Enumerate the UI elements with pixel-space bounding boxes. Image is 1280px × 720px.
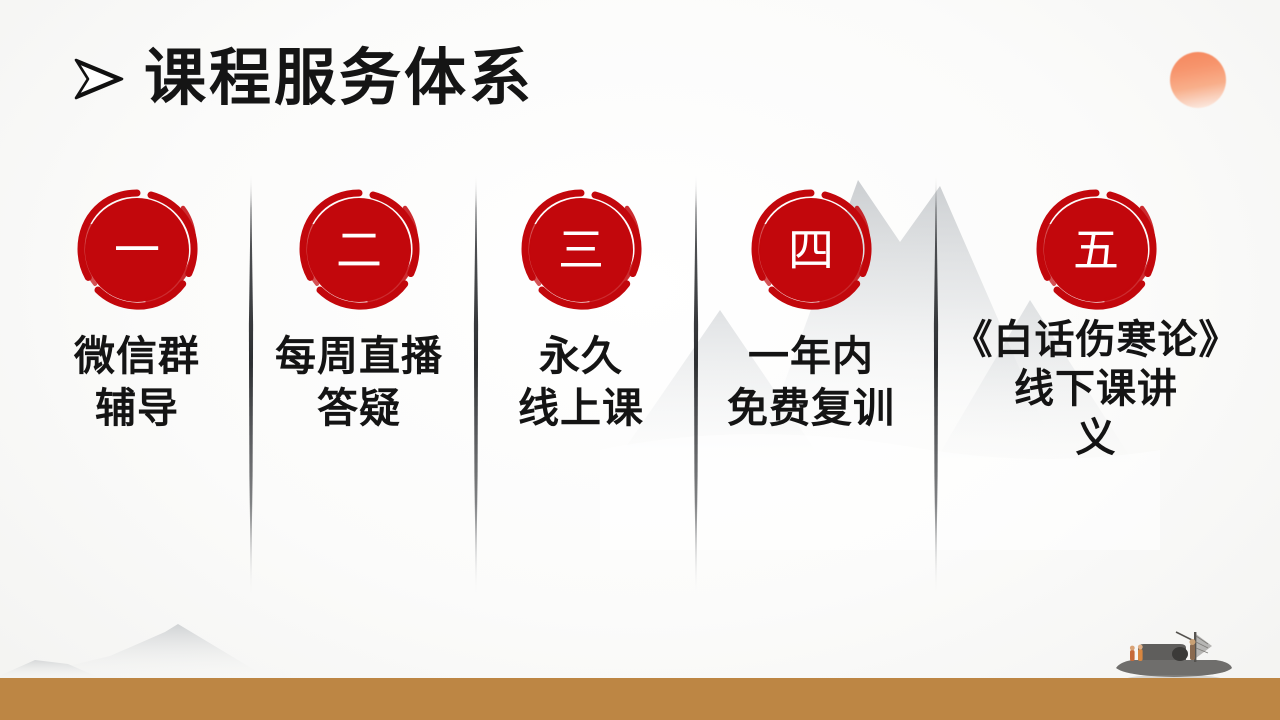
label-line: 辅导 — [30, 382, 244, 434]
service-item[interactable]: 一 微信群 辅导 — [30, 175, 244, 435]
sun-icon — [1170, 52, 1226, 108]
number-badge-text: 三 — [525, 194, 637, 306]
number-badge-text: 四 — [755, 194, 867, 306]
service-item-label: 永久 线上课 — [476, 330, 686, 435]
number-badge-text: 五 — [1040, 194, 1152, 306]
service-item[interactable]: 二 每周直播 答疑 — [252, 175, 466, 435]
number-badge-text: 二 — [303, 194, 415, 306]
page-title: 课程服务体系 — [72, 48, 534, 110]
label-line: 《白话伤寒论》 — [936, 316, 1256, 365]
label-line: 永久 — [476, 330, 686, 382]
service-item[interactable]: 四 一年内 免费复训 — [696, 175, 926, 435]
service-item[interactable]: 三 永久 线上课 — [476, 175, 686, 435]
service-item[interactable]: 五 《白话伤寒论》 线下课讲 义 — [936, 175, 1256, 462]
label-line: 一年内 — [696, 330, 926, 382]
arrow-bullet-icon — [72, 56, 126, 102]
service-item-label: 一年内 免费复训 — [696, 330, 926, 435]
label-line: 每周直播 — [252, 330, 466, 382]
service-item-label: 微信群 辅导 — [30, 330, 244, 435]
chinese-boat-icon — [1108, 624, 1238, 684]
slide-canvas: 课程服务体系 — [0, 0, 1280, 720]
number-badge-text: 一 — [81, 194, 193, 306]
number-badge: 三 — [525, 194, 637, 306]
label-line: 答疑 — [252, 382, 466, 434]
label-line: 线上课 — [476, 382, 686, 434]
page-title-text: 课程服务体系 — [144, 48, 534, 110]
label-line: 线下课讲 — [936, 365, 1256, 414]
number-badge: 一 — [81, 194, 193, 306]
number-badge: 二 — [303, 194, 415, 306]
service-item-label: 每周直播 答疑 — [252, 330, 466, 435]
number-badge: 四 — [755, 194, 867, 306]
service-columns: 一 微信群 辅导 二 每周直播 答疑 三 永久 — [0, 175, 1280, 595]
label-line: 义 — [936, 414, 1256, 463]
footer-bar — [0, 678, 1280, 720]
number-badge: 五 — [1040, 194, 1152, 306]
label-line: 免费复训 — [696, 382, 926, 434]
service-item-label: 《白话伤寒论》 线下课讲 义 — [936, 316, 1256, 462]
label-line: 微信群 — [30, 330, 244, 382]
